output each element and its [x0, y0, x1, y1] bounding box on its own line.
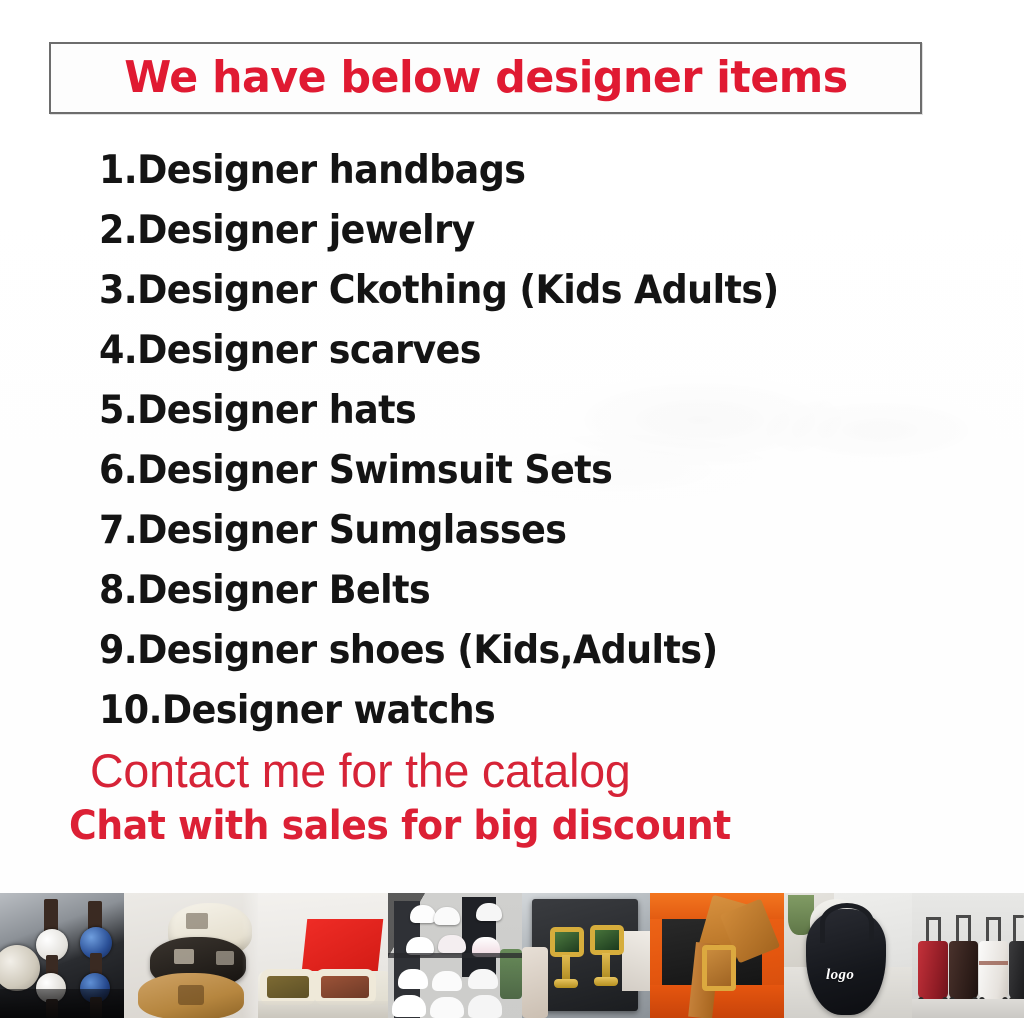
watches-thumbnail — [0, 893, 124, 1018]
title-box: We have below designer items — [49, 42, 922, 114]
list-item: 4.Designer scarves — [99, 321, 922, 381]
list-item: 2.Designer jewelry — [99, 201, 922, 261]
list-item: 10.Designer watchs — [99, 681, 922, 741]
list-item: 3.Designer Ckothing (Kids Adults) — [99, 261, 922, 321]
list-item: 5.Designer hats — [99, 381, 922, 441]
list-item: 8.Designer Belts — [99, 561, 922, 621]
earrings-thumbnail — [522, 893, 650, 1018]
chat-discount-text: Chat with sales for big discount — [69, 801, 731, 851]
sunglasses-thumbnail — [258, 893, 388, 1018]
product-photo-strip: logo — [0, 893, 1024, 1018]
sneakers-thumbnail — [388, 893, 522, 1018]
list-item: 7.Designer Sumglasses — [99, 501, 922, 561]
luggage-thumbnail — [912, 893, 1024, 1018]
list-item: 9.Designer shoes (Kids,Adults) — [99, 621, 922, 681]
designer-items-poster: We have below designer items 1.Designer … — [0, 0, 1024, 1018]
contact-catalog-text: Contact me for the catalog — [90, 743, 631, 799]
page-title: We have below designer items — [124, 56, 848, 100]
belt-thumbnail — [650, 893, 784, 1018]
designer-items-list: 1.Designer handbags 2.Designer jewelry 3… — [99, 141, 979, 741]
handbag-thumbnail: logo — [784, 893, 912, 1018]
list-item: 6.Designer Swimsuit Sets — [99, 441, 922, 501]
hats-thumbnail — [124, 893, 258, 1018]
list-item: 1.Designer handbags — [99, 141, 922, 201]
handbag-logo-text: logo — [826, 967, 854, 984]
